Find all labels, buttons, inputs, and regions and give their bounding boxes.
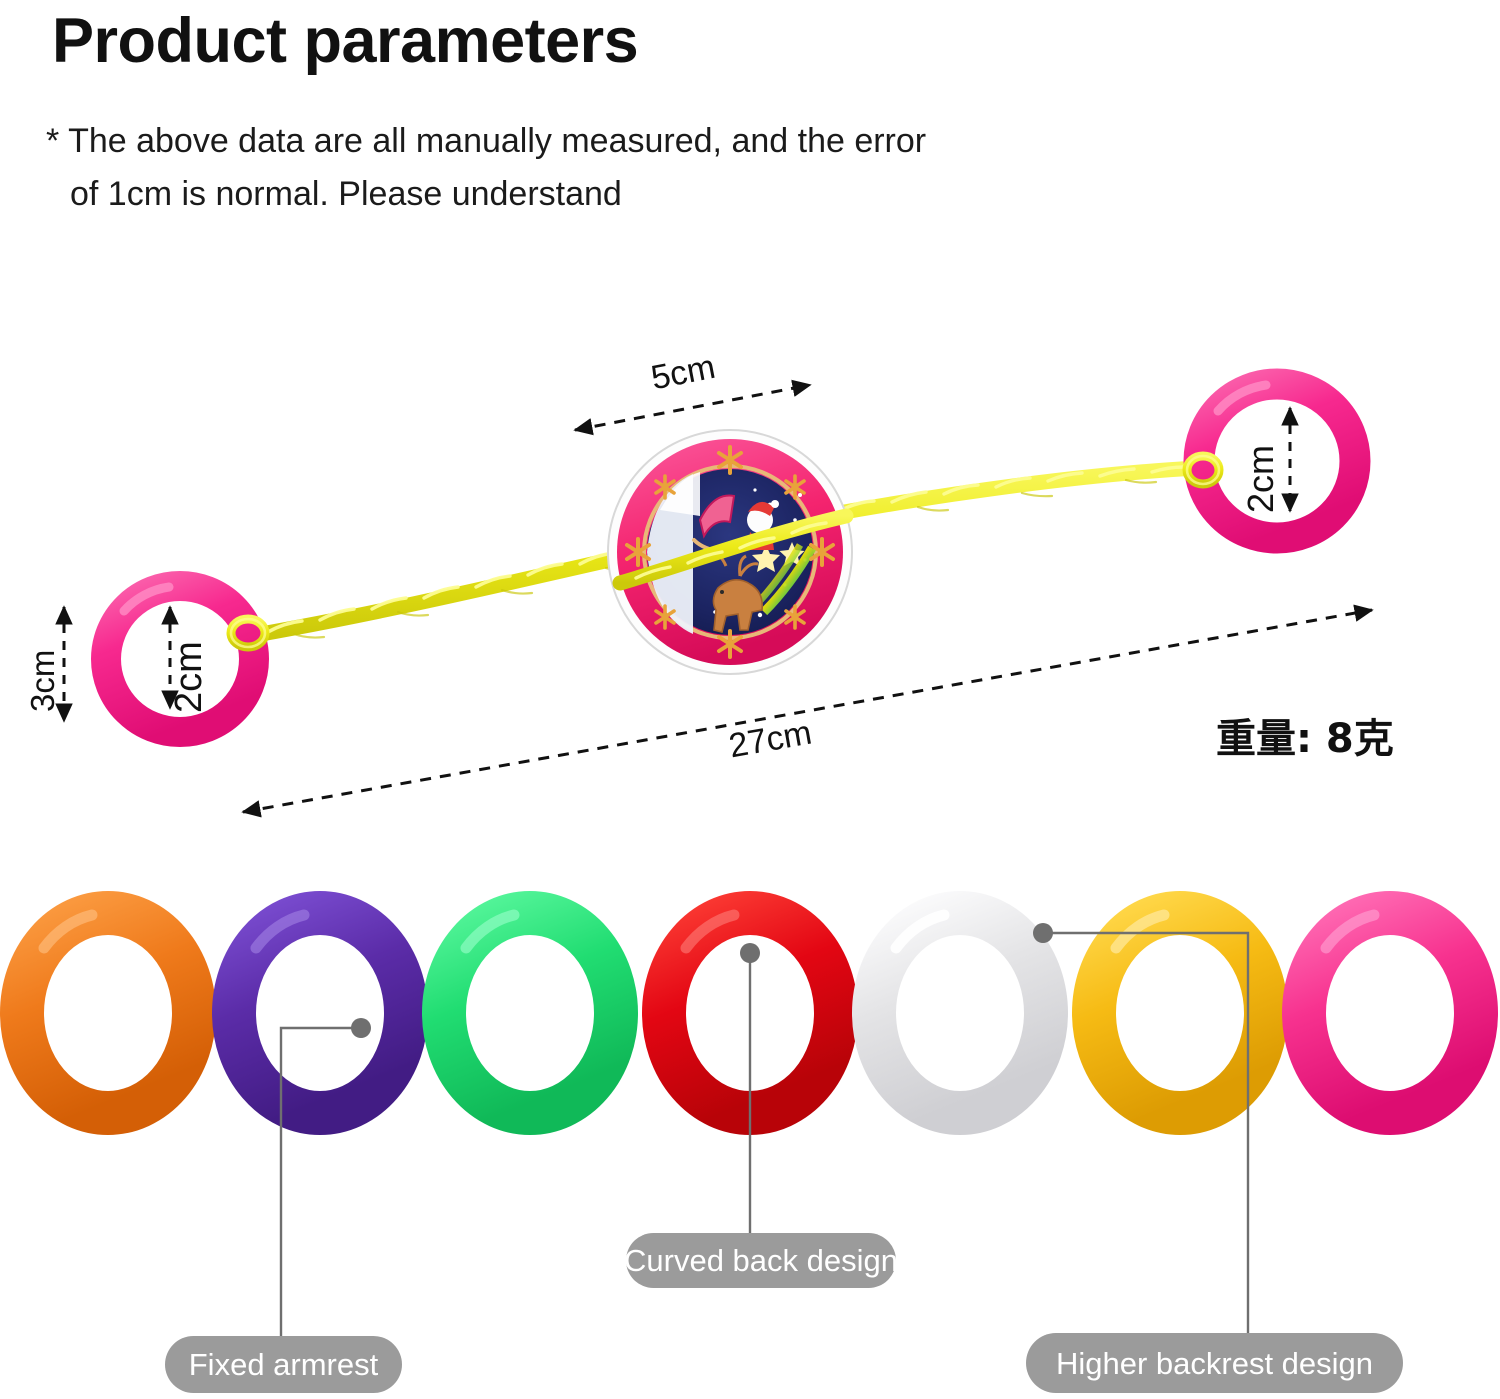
swatch-ring-orange [22,913,194,1113]
callout-curved-back-design[interactable]: Curved back design [626,1233,896,1288]
product-parameters-infographic: Product parameters * The above data are … [0,0,1500,1399]
callout-fixed-armrest[interactable]: Fixed armrest [165,1336,402,1393]
swatch-ring-white [874,913,1046,1113]
callout-higher-backrest-design[interactable]: Higher backrest design [1026,1333,1403,1393]
swatch-ring-pink [1304,913,1476,1113]
leader-dot-curved-back [740,943,760,963]
swatch-ring-purple [234,913,406,1113]
dim-label-3cm: 3cm [24,650,62,712]
weight-label: 重量: 8克 [1216,706,1394,764]
color-variant-rings [0,0,1500,1399]
leader-fixed-armrest [281,1028,361,1336]
dim-label-2cm-right: 2cm [1240,445,1282,513]
swatch-ring-green [444,913,616,1113]
dim-label-2cm-left: 2cm [168,641,211,713]
swatch-ring-yellow [1094,913,1266,1113]
leader-dot-higher-backrest [1033,923,1053,943]
leader-dot-fixed-armrest [351,1018,371,1038]
